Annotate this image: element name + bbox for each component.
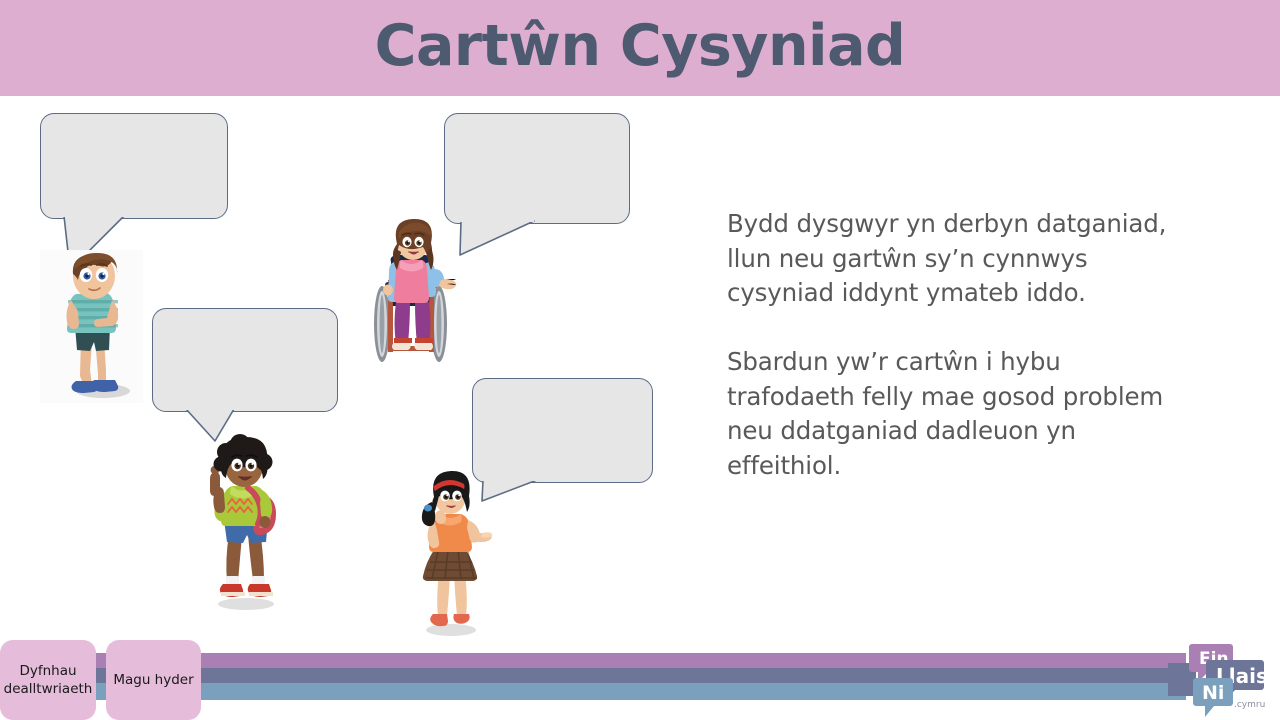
body-copy: Bydd dysgwyr yn derbyn datganiad, llun n… — [727, 207, 1179, 483]
character-girl-wheelchair — [369, 218, 463, 374]
page-title: Cartŵn Cysyniad — [0, 11, 1280, 82]
logo-domain-suffix: .cymru — [1234, 700, 1265, 710]
speech-bubble-top-left — [40, 113, 228, 219]
badge-label: Magu hyder — [113, 671, 193, 689]
body-paragraph-2: Sbardun yw’r cartŵn i hybu trafodaeth fe… — [727, 345, 1179, 483]
svg-text:Ni: Ni — [1202, 682, 1224, 704]
speech-bubble-bottom-middle — [472, 378, 653, 483]
logo-bubble-ni: Ni — [1193, 678, 1233, 717]
character-girl-pointing — [408, 470, 494, 637]
badge-dyfnhau-dealltwriaeth: Dyfnhau dealltwriaeth — [0, 640, 96, 720]
body-paragraph-1: Bydd dysgwyr yn derbyn datganiad, llun n… — [727, 207, 1179, 311]
speech-bubble-top-middle — [444, 113, 630, 224]
badge-magu-hyder: Magu hyder — [106, 640, 201, 720]
character-boy-backpack — [196, 436, 288, 611]
character-boy-thinking — [40, 250, 143, 403]
speech-bubble-middle-left — [152, 308, 338, 412]
slide-canvas: Cartŵn Cysyniad — [0, 0, 1280, 720]
ein-llais-ni-logo: Ein Llais Ni .cymru — [1176, 644, 1280, 720]
badge-label: Dyfnhau dealltwriaeth — [4, 662, 93, 698]
